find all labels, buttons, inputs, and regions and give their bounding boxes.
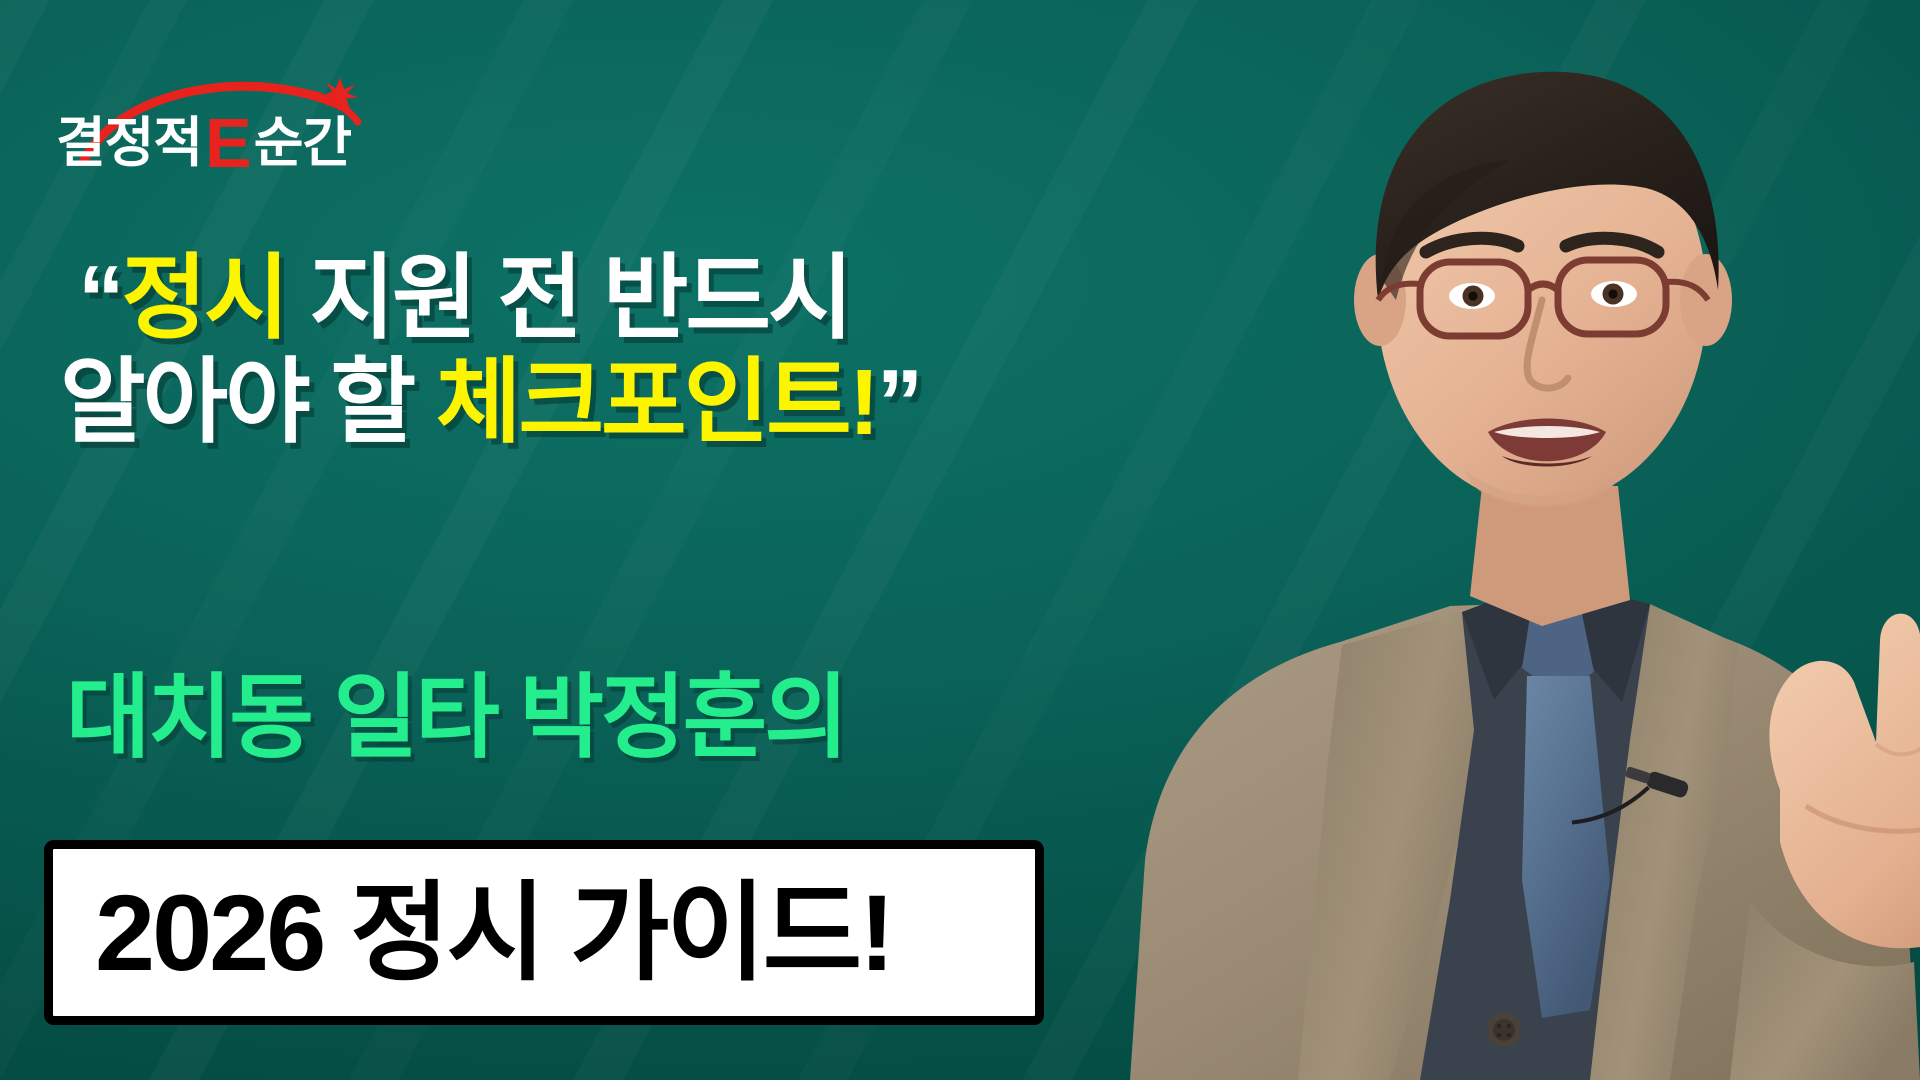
logo-text-after: 순간 (254, 113, 351, 173)
logo-wordmark: 결정적E순간 (56, 108, 351, 178)
headline-highlight-jeongsi: 정시 (122, 246, 287, 350)
channel-logo[interactable]: 결정적E순간 (52, 48, 382, 168)
instructor-subline: 대치동 일타 박정훈의 (66, 672, 846, 764)
guide-title-box[interactable]: 2026 정시 가이드! (44, 840, 1044, 1025)
logo-highlight-letter: E (202, 104, 254, 182)
headline-block: “정시 지원 전 반드시 알아야 할 체크포인트!” (60, 246, 1150, 454)
thumbnail-canvas: 결정적E순간 “정시 지원 전 반드시 알아야 할 체크포인트!” 대치동 일타… (0, 0, 1920, 1080)
presenter-photo (1090, 0, 1920, 1080)
guide-title-text: 2026 정시 가이드! (95, 879, 892, 987)
headline-line-1-rest: 지원 전 반드시 (287, 246, 851, 350)
close-quote: ” (877, 350, 921, 454)
headline-highlight-checkpoint: 체크포인트! (436, 350, 877, 454)
logo-text-before: 결정적 (56, 113, 202, 173)
headline-line-1: “정시 지원 전 반드시 (60, 246, 1150, 350)
headline-line-2: 알아야 할 체크포인트!” (60, 350, 1150, 454)
open-quote: “ (78, 246, 122, 350)
headline-line-2-lead: 알아야 할 (60, 350, 436, 454)
